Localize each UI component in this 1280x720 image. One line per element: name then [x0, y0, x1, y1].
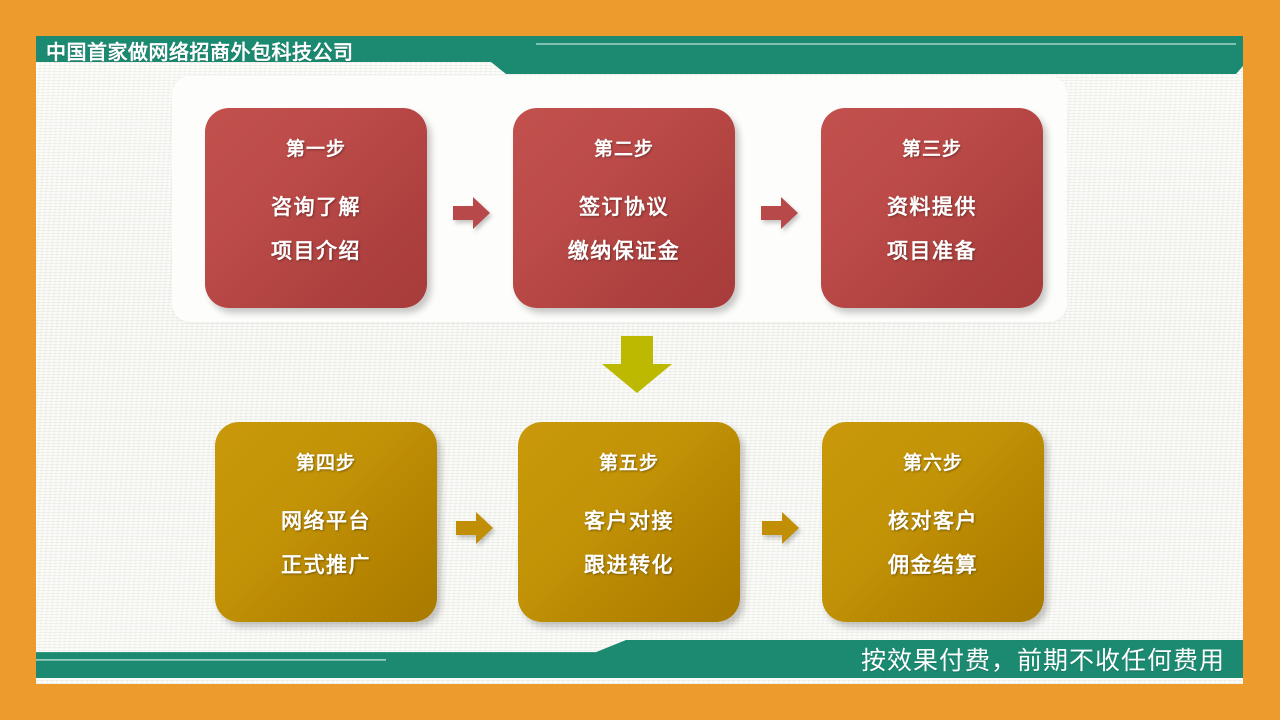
step-box-2[interactable]: 第二步 签订协议 缴纳保证金 — [513, 108, 735, 308]
gold-arrow-1 — [456, 511, 494, 545]
step-line-1: 客户对接 — [584, 505, 674, 535]
header-band: 中国首家做网络招商外包科技公司 — [36, 36, 1243, 74]
step-line-2: 跟进转化 — [584, 549, 674, 579]
gold-arrow-2 — [762, 511, 800, 545]
arrow-right-icon — [762, 511, 800, 545]
slide: 中国首家做网络招商外包科技公司 第一步 咨询了解 项目介绍 第二步 签订协议 缴… — [0, 0, 1280, 720]
step-title: 第五步 — [599, 448, 659, 475]
step-box-3[interactable]: 第三步 资料提供 项目准备 — [821, 108, 1043, 308]
step-line-1: 签订协议 — [579, 191, 669, 221]
footer-text: 按效果付费，前期不收任何费用 — [861, 642, 1225, 680]
step-line-2: 项目准备 — [887, 235, 977, 265]
step-box-6[interactable]: 第六步 核对客户 佣金结算 — [822, 422, 1044, 622]
arrow-right-icon — [761, 196, 799, 230]
step-line-2: 缴纳保证金 — [568, 235, 681, 265]
step-lines: 客户对接 跟进转化 — [584, 505, 674, 579]
header-title: 中国首家做网络招商外包科技公司 — [46, 36, 354, 70]
step-title: 第二步 — [594, 134, 654, 161]
step-lines: 资料提供 项目准备 — [887, 191, 977, 265]
arrow-down-icon — [600, 336, 674, 394]
flow-down-arrow — [600, 336, 674, 394]
step-lines: 咨询了解 项目介绍 — [271, 191, 361, 265]
footer-band: 按效果付费，前期不收任何费用 — [36, 640, 1243, 684]
step-line-1: 核对客户 — [888, 505, 978, 535]
step-box-4[interactable]: 第四步 网络平台 正式推广 — [215, 422, 437, 622]
step-title: 第六步 — [903, 448, 963, 475]
step-line-2: 佣金结算 — [888, 549, 978, 579]
step-lines: 核对客户 佣金结算 — [888, 505, 978, 579]
arrow-right-icon — [453, 196, 491, 230]
step-box-1[interactable]: 第一步 咨询了解 项目介绍 — [205, 108, 427, 308]
arrow-right-icon — [456, 511, 494, 545]
step-box-5[interactable]: 第五步 客户对接 跟进转化 — [518, 422, 740, 622]
step-line-1: 资料提供 — [887, 191, 977, 221]
step-line-2: 项目介绍 — [271, 235, 361, 265]
step-line-2: 正式推广 — [281, 549, 371, 579]
step-line-1: 咨询了解 — [271, 191, 361, 221]
red-arrow-2 — [761, 196, 799, 230]
step-lines: 网络平台 正式推广 — [281, 505, 371, 579]
step-lines: 签订协议 缴纳保证金 — [568, 191, 681, 265]
red-arrow-1 — [453, 196, 491, 230]
step-line-1: 网络平台 — [281, 505, 371, 535]
step-title: 第四步 — [296, 448, 356, 475]
step-title: 第三步 — [902, 134, 962, 161]
step-title: 第一步 — [286, 134, 346, 161]
